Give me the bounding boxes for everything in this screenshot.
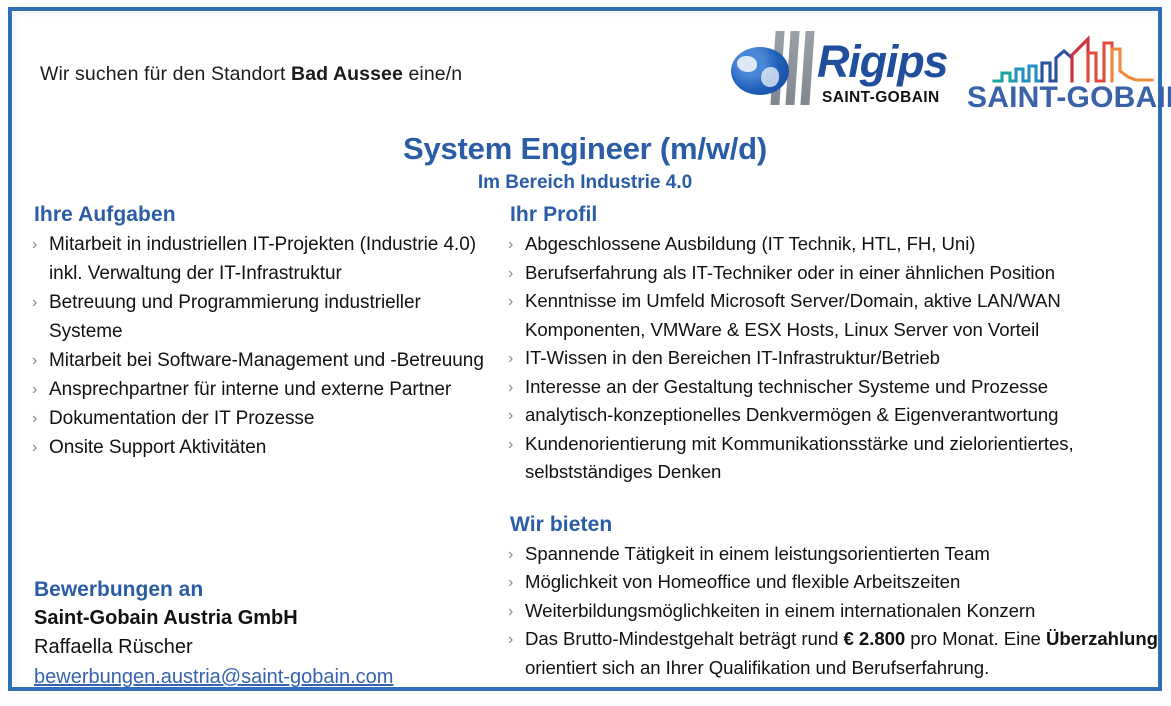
chevron-right-icon: › <box>508 287 513 316</box>
saint-gobain-wordmark: SAINT-GOBAIN <box>967 83 1171 113</box>
rigips-tagline: SAINT-GOBAIN <box>822 89 940 107</box>
chevron-right-icon: › <box>508 401 513 430</box>
list-item: ›Betreuung und Programmierung industriel… <box>26 288 494 346</box>
list-item: ›Das Brutto-Mindestgehalt beträgt rund €… <box>502 625 1171 682</box>
bieten-list: ›Spannende Tätigkeit in einem leistungso… <box>502 540 1171 683</box>
chevron-right-icon: › <box>508 625 513 654</box>
ad-header: Wir suchen für den Standort Bad Aussee e… <box>12 11 1158 123</box>
salary-amount: € 2.800 <box>844 628 906 649</box>
chevron-right-icon: › <box>508 230 513 259</box>
list-item: ›Kundenorientierung mit Kommunikationsst… <box>502 430 1171 487</box>
chevron-right-icon: › <box>508 259 513 288</box>
salary-emphasis: Überzahlung <box>1046 628 1158 649</box>
list-item-text: Berufserfahrung als IT-Techniker oder in… <box>525 262 1055 283</box>
section-heading-bieten: Wir bieten <box>510 513 1171 537</box>
list-item-text: IT-Wissen in den Bereichen IT-Infrastruk… <box>525 347 940 368</box>
contact-person: Raffaella Rüscher <box>34 633 494 662</box>
contact-company: Saint-Gobain Austria GmbH <box>34 604 494 633</box>
list-item: ›Mitarbeit in industriellen IT-Projekten… <box>26 230 494 288</box>
job-subtitle: Im Bereich Industrie 4.0 <box>12 172 1158 194</box>
list-item-text: Weiterbildungsmöglichkeiten in einem int… <box>525 600 1035 621</box>
chevron-right-icon: › <box>508 430 513 459</box>
intro-suffix: eine/n <box>403 63 462 85</box>
list-item: ›Berufserfahrung als IT-Techniker oder i… <box>502 259 1171 288</box>
section-heading-aufgaben: Ihre Aufgaben <box>34 203 494 227</box>
list-item-text: Abgeschlossene Ausbildung (IT Technik, H… <box>525 233 975 254</box>
rigips-globe-icon <box>731 47 789 95</box>
contact-block: Bewerbungen an Saint-Gobain Austria GmbH… <box>34 576 494 692</box>
list-item: ›Abgeschlossene Ausbildung (IT Technik, … <box>502 230 1171 259</box>
list-item-text: Dokumentation der IT Prozesse <box>49 408 314 429</box>
job-ad-page: Wir suchen für den Standort Bad Aussee e… <box>0 0 1171 706</box>
chevron-right-icon: › <box>508 597 513 626</box>
right-column: Ihr Profil ›Abgeschlossene Ausbildung (I… <box>502 203 1171 682</box>
list-item: ›Weiterbildungsmöglichkeiten in einem in… <box>502 597 1171 626</box>
list-item-text: Interesse an der Gestaltung technischer … <box>525 376 1048 397</box>
chevron-right-icon: › <box>508 568 513 597</box>
list-item-text: analytisch-konzeptionelles Denkvermögen … <box>525 404 1058 425</box>
list-item: ›Kenntnisse im Umfeld Microsoft Server/D… <box>502 287 1171 344</box>
salary-text-1: Das Brutto-Mindestgehalt beträgt rund <box>525 628 844 649</box>
contact-email-link[interactable]: bewerbungen.austria@saint-gobain.com <box>34 662 393 692</box>
saint-gobain-logo: SAINT-GOBAIN <box>967 33 1171 113</box>
saint-gobain-skyline-icon <box>992 33 1171 85</box>
chevron-right-icon: › <box>32 346 37 375</box>
chevron-right-icon: › <box>32 404 37 433</box>
list-item-text: Ansprechpartner für interne und externe … <box>49 379 451 400</box>
list-item-text: Spannende Tätigkeit in einem leistungsor… <box>525 543 990 564</box>
list-item-text: Mitarbeit in industriellen IT-Projekten … <box>49 234 476 284</box>
list-item: ›analytisch-konzeptionelles Denkvermögen… <box>502 401 1171 430</box>
salary-text-2: pro Monat. Eine <box>905 628 1046 649</box>
chevron-right-icon: › <box>32 375 37 404</box>
contact-heading: Bewerbungen an <box>34 576 494 604</box>
intro-line: Wir suchen für den Standort Bad Aussee e… <box>40 63 462 86</box>
list-item: ›Dokumentation der IT Prozesse <box>26 404 494 433</box>
list-item-text: Kenntnisse im Umfeld Microsoft Server/Do… <box>525 290 1061 340</box>
list-item: ›Spannende Tätigkeit in einem leistungso… <box>502 540 1171 569</box>
chevron-right-icon: › <box>508 373 513 402</box>
intro-prefix: Wir suchen für den Standort <box>40 63 291 85</box>
rigips-wordmark: Rigips <box>817 39 947 84</box>
profil-list: ›Abgeschlossene Ausbildung (IT Technik, … <box>502 230 1171 487</box>
list-item-text: Onsite Support Aktivitäten <box>49 437 266 458</box>
list-item-text: Mitarbeit bei Software-Management und -B… <box>49 350 484 371</box>
chevron-right-icon: › <box>32 288 37 317</box>
salary-text-3: orientiert sich an Ihrer Qualifikation u… <box>525 657 989 678</box>
list-item-text: Kundenorientierung mit Kommunikationsstä… <box>525 433 1074 483</box>
list-item-text: Möglichkeit von Homeoffice und flexible … <box>525 571 960 592</box>
list-item: ›Onsite Support Aktivitäten <box>26 433 494 462</box>
chevron-right-icon: › <box>508 540 513 569</box>
chevron-right-icon: › <box>32 230 37 259</box>
ad-border-frame: Wir suchen für den Standort Bad Aussee e… <box>8 7 1162 691</box>
list-item: ›Mitarbeit bei Software-Management und -… <box>26 346 494 375</box>
list-item: ›Möglichkeit von Homeoffice und flexible… <box>502 568 1171 597</box>
list-item-text: Betreuung und Programmierung industriell… <box>49 292 421 342</box>
list-item: ›Ansprechpartner für interne und externe… <box>26 375 494 404</box>
section-heading-profil: Ihr Profil <box>510 203 1171 227</box>
rigips-logo: Rigips SAINT-GOBAIN <box>729 29 944 109</box>
left-column: Ihre Aufgaben ›Mitarbeit in industrielle… <box>26 203 494 462</box>
intro-location: Bad Aussee <box>291 63 403 85</box>
job-title: System Engineer (m/w/d) <box>12 131 1158 167</box>
list-item: ›IT-Wissen in den Bereichen IT-Infrastru… <box>502 344 1171 373</box>
chevron-right-icon: › <box>508 344 513 373</box>
list-item: ›Interesse an der Gestaltung technischer… <box>502 373 1171 402</box>
chevron-right-icon: › <box>32 433 37 462</box>
aufgaben-list: ›Mitarbeit in industriellen IT-Projekten… <box>26 230 494 462</box>
